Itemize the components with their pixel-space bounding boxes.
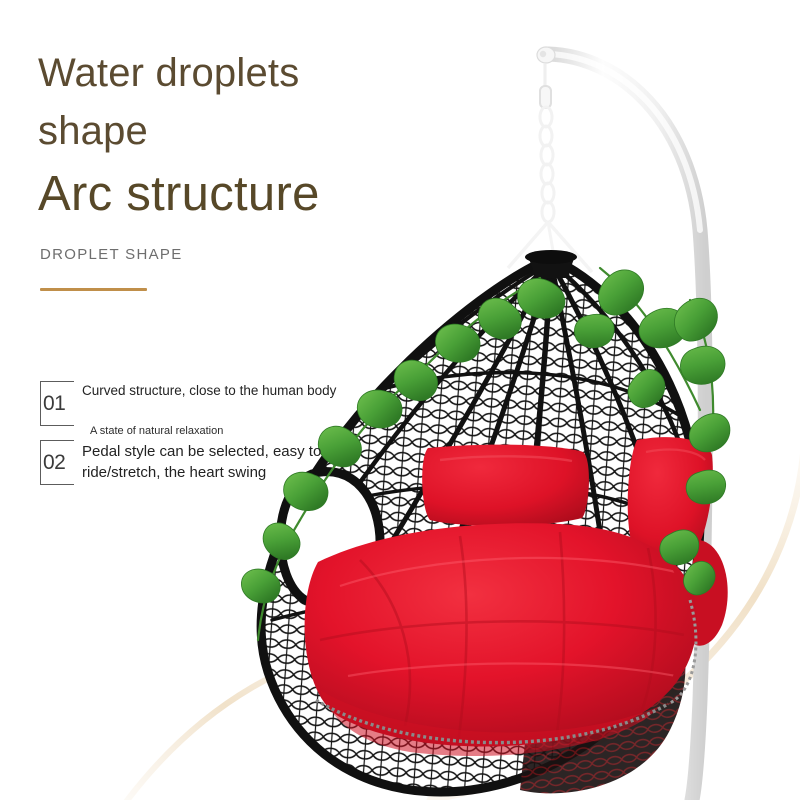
feature-list: 01 Curved structure, close to the human …	[40, 381, 340, 497]
feature-item-02: 02 Pedal style can be selected, easy to …	[40, 440, 340, 485]
headline-line-2: shape	[38, 102, 458, 160]
product-poster: Water droplets shape Arc structure DROPL…	[0, 0, 800, 800]
feature-title: Curved structure, close to the human bod…	[82, 382, 336, 400]
feature-text-block: Pedal style can be selected, easy to rid…	[74, 440, 340, 484]
headline-line-1: Water droplets	[38, 44, 458, 102]
feature-text-block: Curved structure, close to the human bod…	[74, 381, 336, 400]
marketing-copy: Water droplets shape Arc structure DROPL…	[0, 0, 800, 800]
feature-title: Pedal style can be selected, easy to rid…	[82, 441, 340, 484]
feature-number-badge: 01	[40, 381, 74, 426]
feature-item-01: 01 Curved structure, close to the human …	[40, 381, 340, 426]
subtitle: DROPLET SHAPE	[40, 246, 183, 263]
headline-main: Arc structure	[38, 166, 458, 224]
feature-number-badge: 02	[40, 440, 74, 485]
feature-subtext: A state of natural relaxation	[82, 425, 223, 437]
accent-bar	[40, 288, 147, 291]
headline-block: Water droplets shape Arc structure	[38, 44, 458, 224]
